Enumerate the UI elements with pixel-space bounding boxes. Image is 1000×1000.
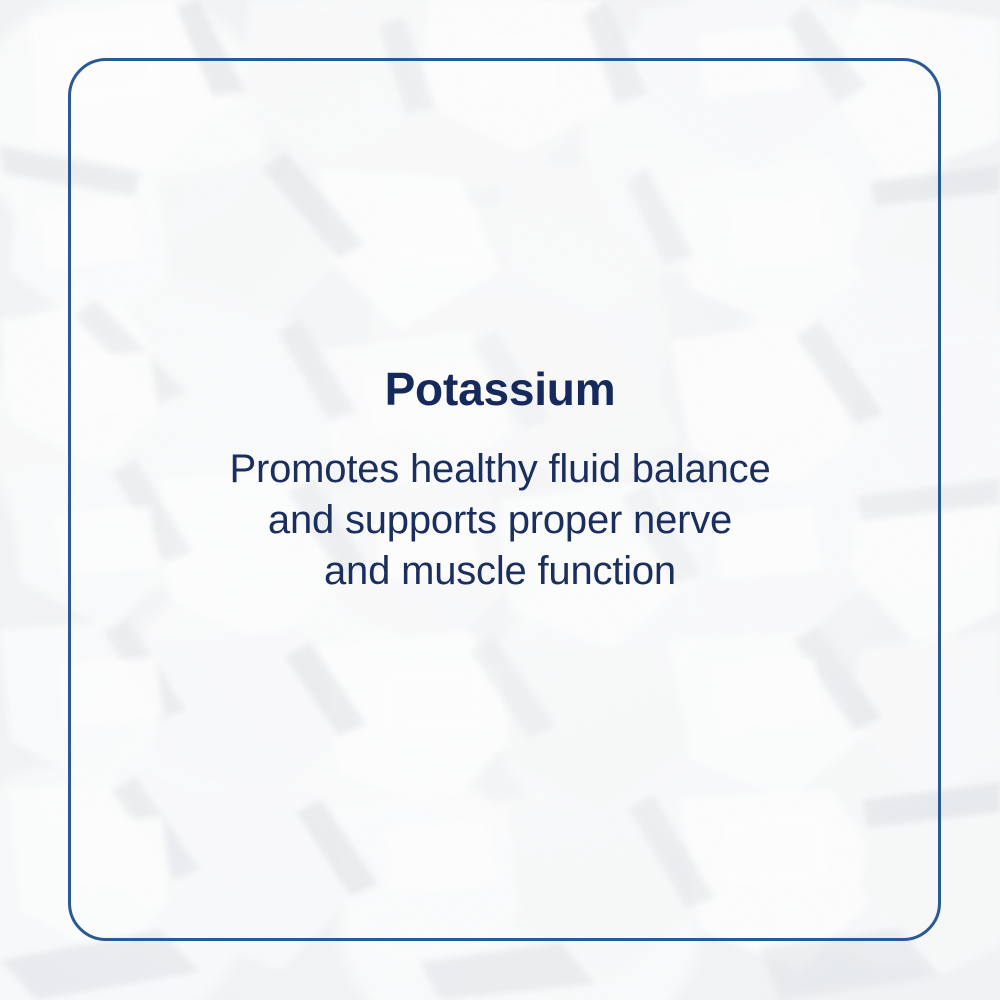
- nutrient-title: Potassium: [0, 366, 1000, 412]
- card-content: Potassium Promotes healthy fluid balance…: [0, 0, 1000, 1000]
- description-line-3: and muscle function: [0, 546, 1000, 597]
- description-line-2: and supports proper nerve: [0, 495, 1000, 546]
- potassium-benefit-card: Potassium Promotes healthy fluid balance…: [0, 0, 1000, 1000]
- nutrient-description: Promotes healthy fluid balance and suppo…: [0, 444, 1000, 597]
- description-line-1: Promotes healthy fluid balance: [0, 444, 1000, 495]
